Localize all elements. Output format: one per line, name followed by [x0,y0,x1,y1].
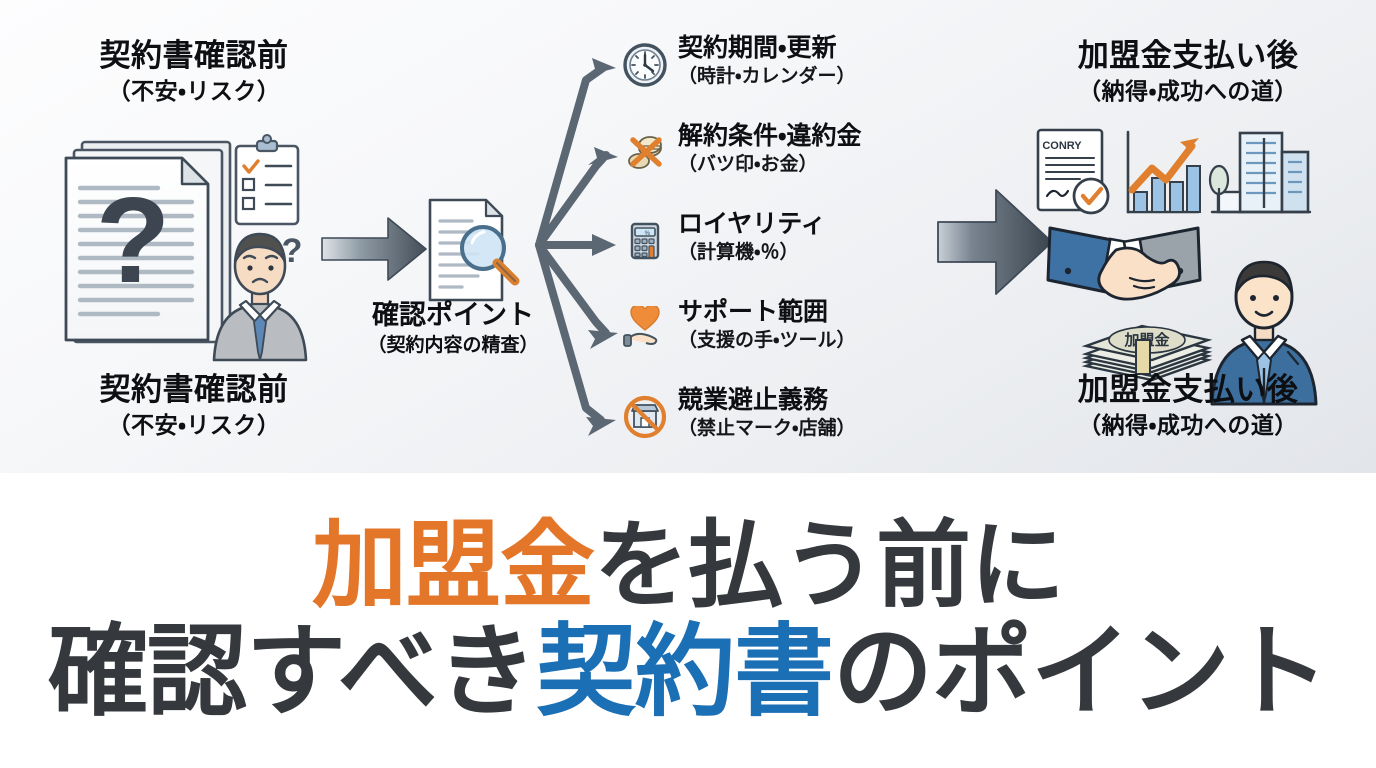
checkpoint-item-cancellation[interactable]: 解約条件・違約金 （バツ印・お金） [618,122,948,194]
checkpoint-item-royalty[interactable]: % ロイヤリティ [618,210,948,282]
checkpoint-item-non-compete[interactable]: 競業避止義務 （禁止マーク・店舗） [618,386,948,458]
heading-before-top-line2: （不安・リスク） [14,78,374,104]
checkpoint-title: 競業避止義務 [678,386,855,414]
title-line-1-segment-2: を払う前に [594,513,1064,619]
title-line-2-segment-3: のポイント [833,616,1328,728]
infographic-canvas: ? ? [0,0,1376,768]
center-node-label-line1: 確認ポイント [338,300,568,332]
checkpoint-sub: （計算機・％） [678,242,826,263]
heading-after-bottom: 加盟金支払い後 （納得・成功への道） [1008,372,1368,438]
coins-cross-icon [618,124,672,182]
checkpoint-item-contract-term[interactable]: 契約期間・更新 （時計・カレンダー） [618,34,948,106]
checkpoint-list: 契約期間・更新 （時計・カレンダー） [618,34,948,454]
fan-arrow-1 [539,68,603,245]
title-line-2-segment-2: 契約書 [536,616,833,728]
checkpoint-title: 契約期間・更新 [678,34,855,62]
checkpoint-title: 解約条件・違約金 [678,122,862,150]
checkpoint-sub: （時計・カレンダー） [678,66,855,87]
heading-before-bottom-line1: 契約書確認前 [14,372,374,408]
title-line-2: 確認すべき契約書のポイント [48,622,1328,722]
city-buildings-icon [1210,133,1310,212]
clipboard-checklist [236,135,298,224]
left-illustration: ? ? [66,135,306,360]
title-line-1: 加盟金を払う前に [312,519,1064,614]
arrow-center-to-right [938,190,1052,294]
heading-after-top: 加盟金支払い後 （納得・成功への道） [1008,38,1368,104]
hand-heart-icon [618,300,672,358]
heading-before-top: 契約書確認前 （不安・リスク） [14,38,374,104]
document-magnifier-icon [430,200,515,300]
right-illustration: CONRY [1038,130,1316,404]
arrow-left-to-center [322,218,426,280]
document-question-mark: ? [96,172,171,308]
clock-icon [618,36,672,94]
checkpoint-title: ロイヤリティ [678,210,826,238]
heading-before-top-line1: 契約書確認前 [14,38,374,74]
center-node-label-line2: （契約内容の精査） [338,335,568,357]
heading-after-top-line2: （納得・成功への道） [1008,78,1368,104]
stacked-documents: ? [66,142,230,342]
checkpoint-sub: （禁止マーク・店舗） [678,418,855,439]
heading-before-bottom: 契約書確認前 （不安・リスク） [14,372,374,438]
title-block: 加盟金を払う前に 確認すべき契約書のポイント [0,473,1376,768]
handshake-icon [1048,228,1200,299]
no-store-icon [618,388,672,446]
checkpoint-item-support[interactable]: サポート範囲 （支援の手・ツール） [618,298,948,370]
title-line-2-segment-1: 確認すべき [48,616,536,728]
heading-after-bottom-line1: 加盟金支払い後 [1008,372,1368,408]
center-node-label: 確認ポイント （契約内容の精査） [338,300,568,357]
svg-text:%: % [645,231,651,237]
signed-contract-icon: CONRY [1038,130,1108,213]
heading-before-bottom-line2: （不安・リスク） [14,412,374,438]
heading-after-bottom-line2: （納得・成功への道） [1008,412,1368,438]
title-line-1-segment-1: 加盟金 [312,513,594,619]
checkpoint-title: サポート範囲 [678,298,855,326]
diagram-panel: ? ? [0,0,1376,473]
heading-after-top-line1: 加盟金支払い後 [1008,38,1368,74]
checkpoint-sub: （バツ印・お金） [678,154,862,175]
calculator-icon: % [618,212,672,270]
checkpoint-sub: （支援の手・ツール） [678,330,855,351]
growth-chart-icon [1128,132,1200,212]
contract-label-text: CONRY [1042,140,1082,152]
